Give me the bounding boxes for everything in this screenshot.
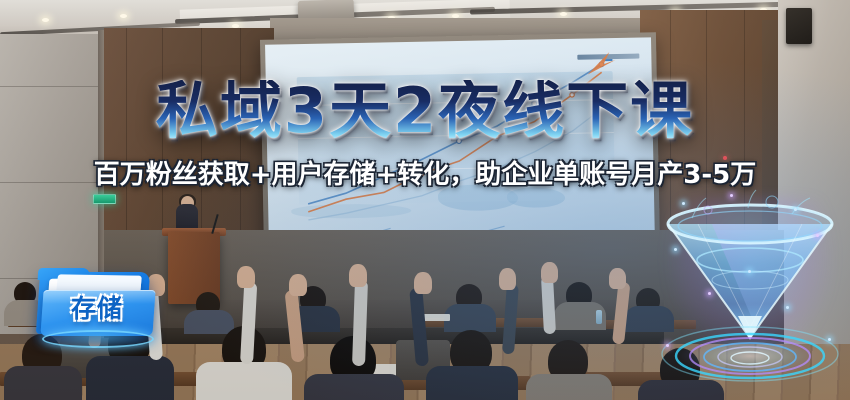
downlight xyxy=(560,12,567,16)
page-subtitle: 百万粉丝获取+用户存储+转化，助企业单账号月产3-5万 xyxy=(0,160,850,190)
wall-speaker xyxy=(786,8,812,44)
exit-sign xyxy=(93,194,116,204)
page-title: 私域3天2夜线下课 xyxy=(0,80,850,142)
poster-canvas: 私域3天2夜线下课 私域3天2夜线下课 百万粉丝获取+用户存储+转化，助企业单账… xyxy=(0,0,850,400)
downlight xyxy=(120,14,127,18)
storage-badge-label: 存储 xyxy=(36,294,158,324)
badge-glow-ring xyxy=(42,330,154,348)
downlight xyxy=(42,18,49,22)
storage-badge[interactable]: 存储 xyxy=(36,268,158,342)
